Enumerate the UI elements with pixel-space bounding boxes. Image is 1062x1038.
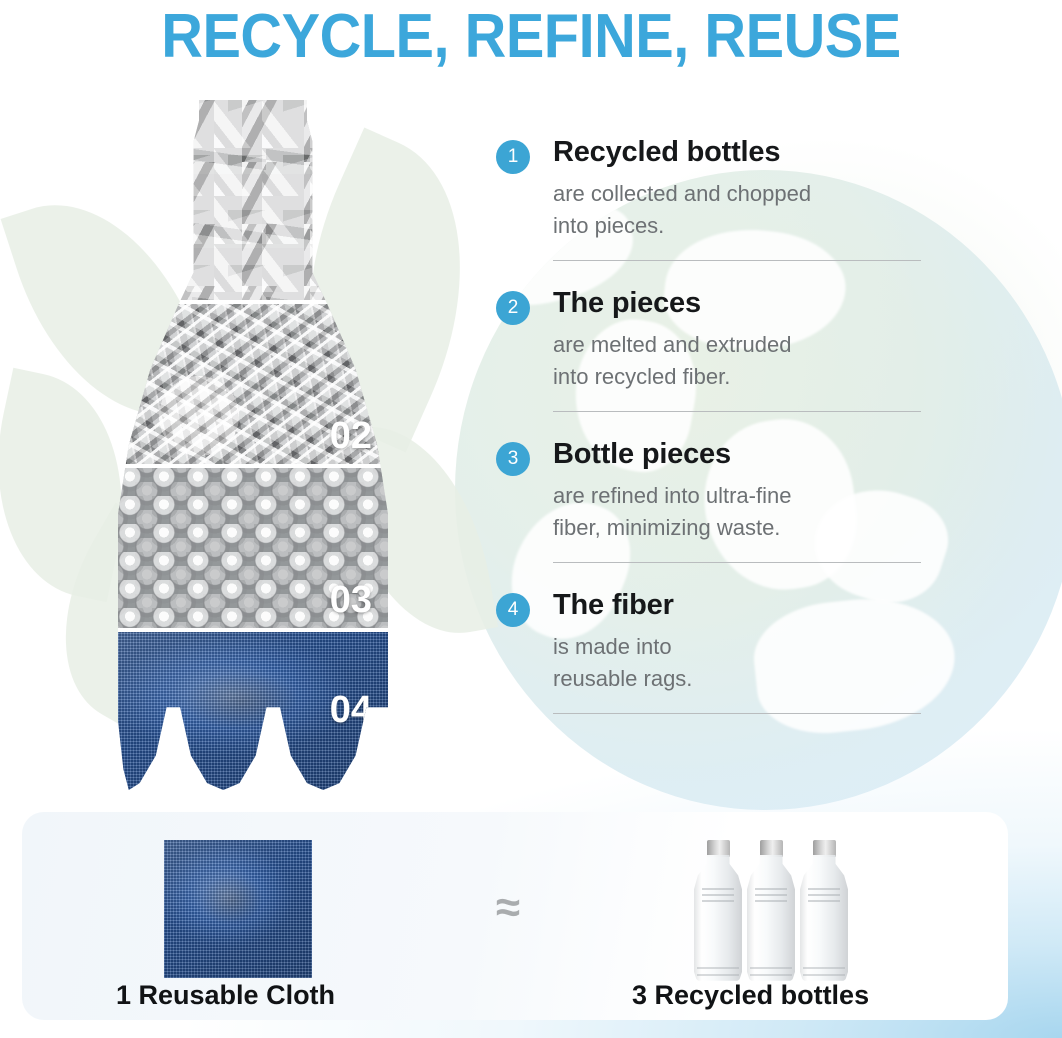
segment-number-04: 04 <box>330 689 372 732</box>
pet-bottle <box>747 840 795 982</box>
bottle-segment-02: 02 <box>118 304 388 464</box>
bottle-segment-04: 04 <box>118 632 388 790</box>
pet-bottle <box>694 840 742 982</box>
step-description: are collected and chopped into pieces. <box>553 178 811 242</box>
bottle-cap-icon <box>707 840 730 857</box>
bottle-segment-01: 01 <box>118 100 388 300</box>
step-divider <box>553 562 921 563</box>
step-text: Bottle pieces are refined into ultra-fin… <box>553 436 791 544</box>
step-header: 1 Recycled bottles are collected and cho… <box>496 134 936 242</box>
step-title: Recycled bottles <box>553 134 811 170</box>
step-header: 4 The fiber is made into reusable rags. <box>496 587 936 695</box>
step-title: Bottle pieces <box>553 436 791 472</box>
step-description: are melted and extruded into recycled fi… <box>553 329 792 393</box>
step-description: is made into reusable rags. <box>553 631 692 695</box>
step-title: The pieces <box>553 285 792 321</box>
step-divider <box>553 713 921 714</box>
step-item-2: 2 The pieces are melted and extruded int… <box>496 285 936 412</box>
step-number-badge: 4 <box>496 593 530 627</box>
cloth-swatch <box>164 840 312 978</box>
bottle-segment-03: 03 <box>118 468 388 628</box>
step-divider <box>553 411 921 412</box>
bottle-cap-icon <box>760 840 783 857</box>
bottle-label-rings <box>755 884 787 906</box>
pet-bottle <box>800 840 848 982</box>
bottle-diagram: 01 02 03 04 <box>118 100 388 790</box>
bottle-label-rings <box>702 884 734 906</box>
page-title: RECYCLE, REFINE, REUSE <box>37 2 1025 72</box>
segment-number-02: 02 <box>330 415 372 458</box>
step-header: 3 Bottle pieces are refined into ultra-f… <box>496 436 936 544</box>
segment-number-01: 01 <box>330 251 372 294</box>
comparison-card: ≈ 1 Reusable Cloth 3 Recycled <box>22 812 1008 1020</box>
segment-number-03: 03 <box>330 579 372 622</box>
step-text: The pieces are melted and extruded into … <box>553 285 792 393</box>
bottle-cap-icon <box>813 840 836 857</box>
cloth-label: 1 Reusable Cloth <box>116 980 335 1011</box>
crushed-plastic-texture <box>118 100 388 300</box>
steps-list: 1 Recycled bottles are collected and cho… <box>496 134 936 714</box>
step-text: The fiber is made into reusable rags. <box>553 587 692 695</box>
approximately-equal-icon: ≈ <box>478 886 538 930</box>
step-description: are refined into ultra-fine fiber, minim… <box>553 480 791 544</box>
step-item-1: 1 Recycled bottles are collected and cho… <box>496 134 936 261</box>
step-item-4: 4 The fiber is made into reusable rags. <box>496 587 936 714</box>
step-number-badge: 2 <box>496 291 530 325</box>
bottle-label-rings <box>808 884 840 906</box>
bottle-silhouette: 01 02 03 04 <box>118 100 388 790</box>
step-number-badge: 3 <box>496 442 530 476</box>
step-title: The fiber <box>553 587 692 623</box>
step-divider <box>553 260 921 261</box>
recycled-bottles-illustration <box>694 822 854 982</box>
step-number-badge: 1 <box>496 140 530 174</box>
bottles-label: 3 Recycled bottles <box>632 980 869 1011</box>
step-item-3: 3 Bottle pieces are refined into ultra-f… <box>496 436 936 563</box>
bottle-base-ribs <box>750 962 792 976</box>
bottle-base-ribs <box>803 962 845 976</box>
infographic-canvas: RECYCLE, REFINE, REUSE 01 02 03 04 <box>0 0 1062 1038</box>
step-header: 2 The pieces are melted and extruded int… <box>496 285 936 393</box>
step-text: Recycled bottles are collected and chopp… <box>553 134 811 242</box>
bottle-base-ribs <box>697 962 739 976</box>
